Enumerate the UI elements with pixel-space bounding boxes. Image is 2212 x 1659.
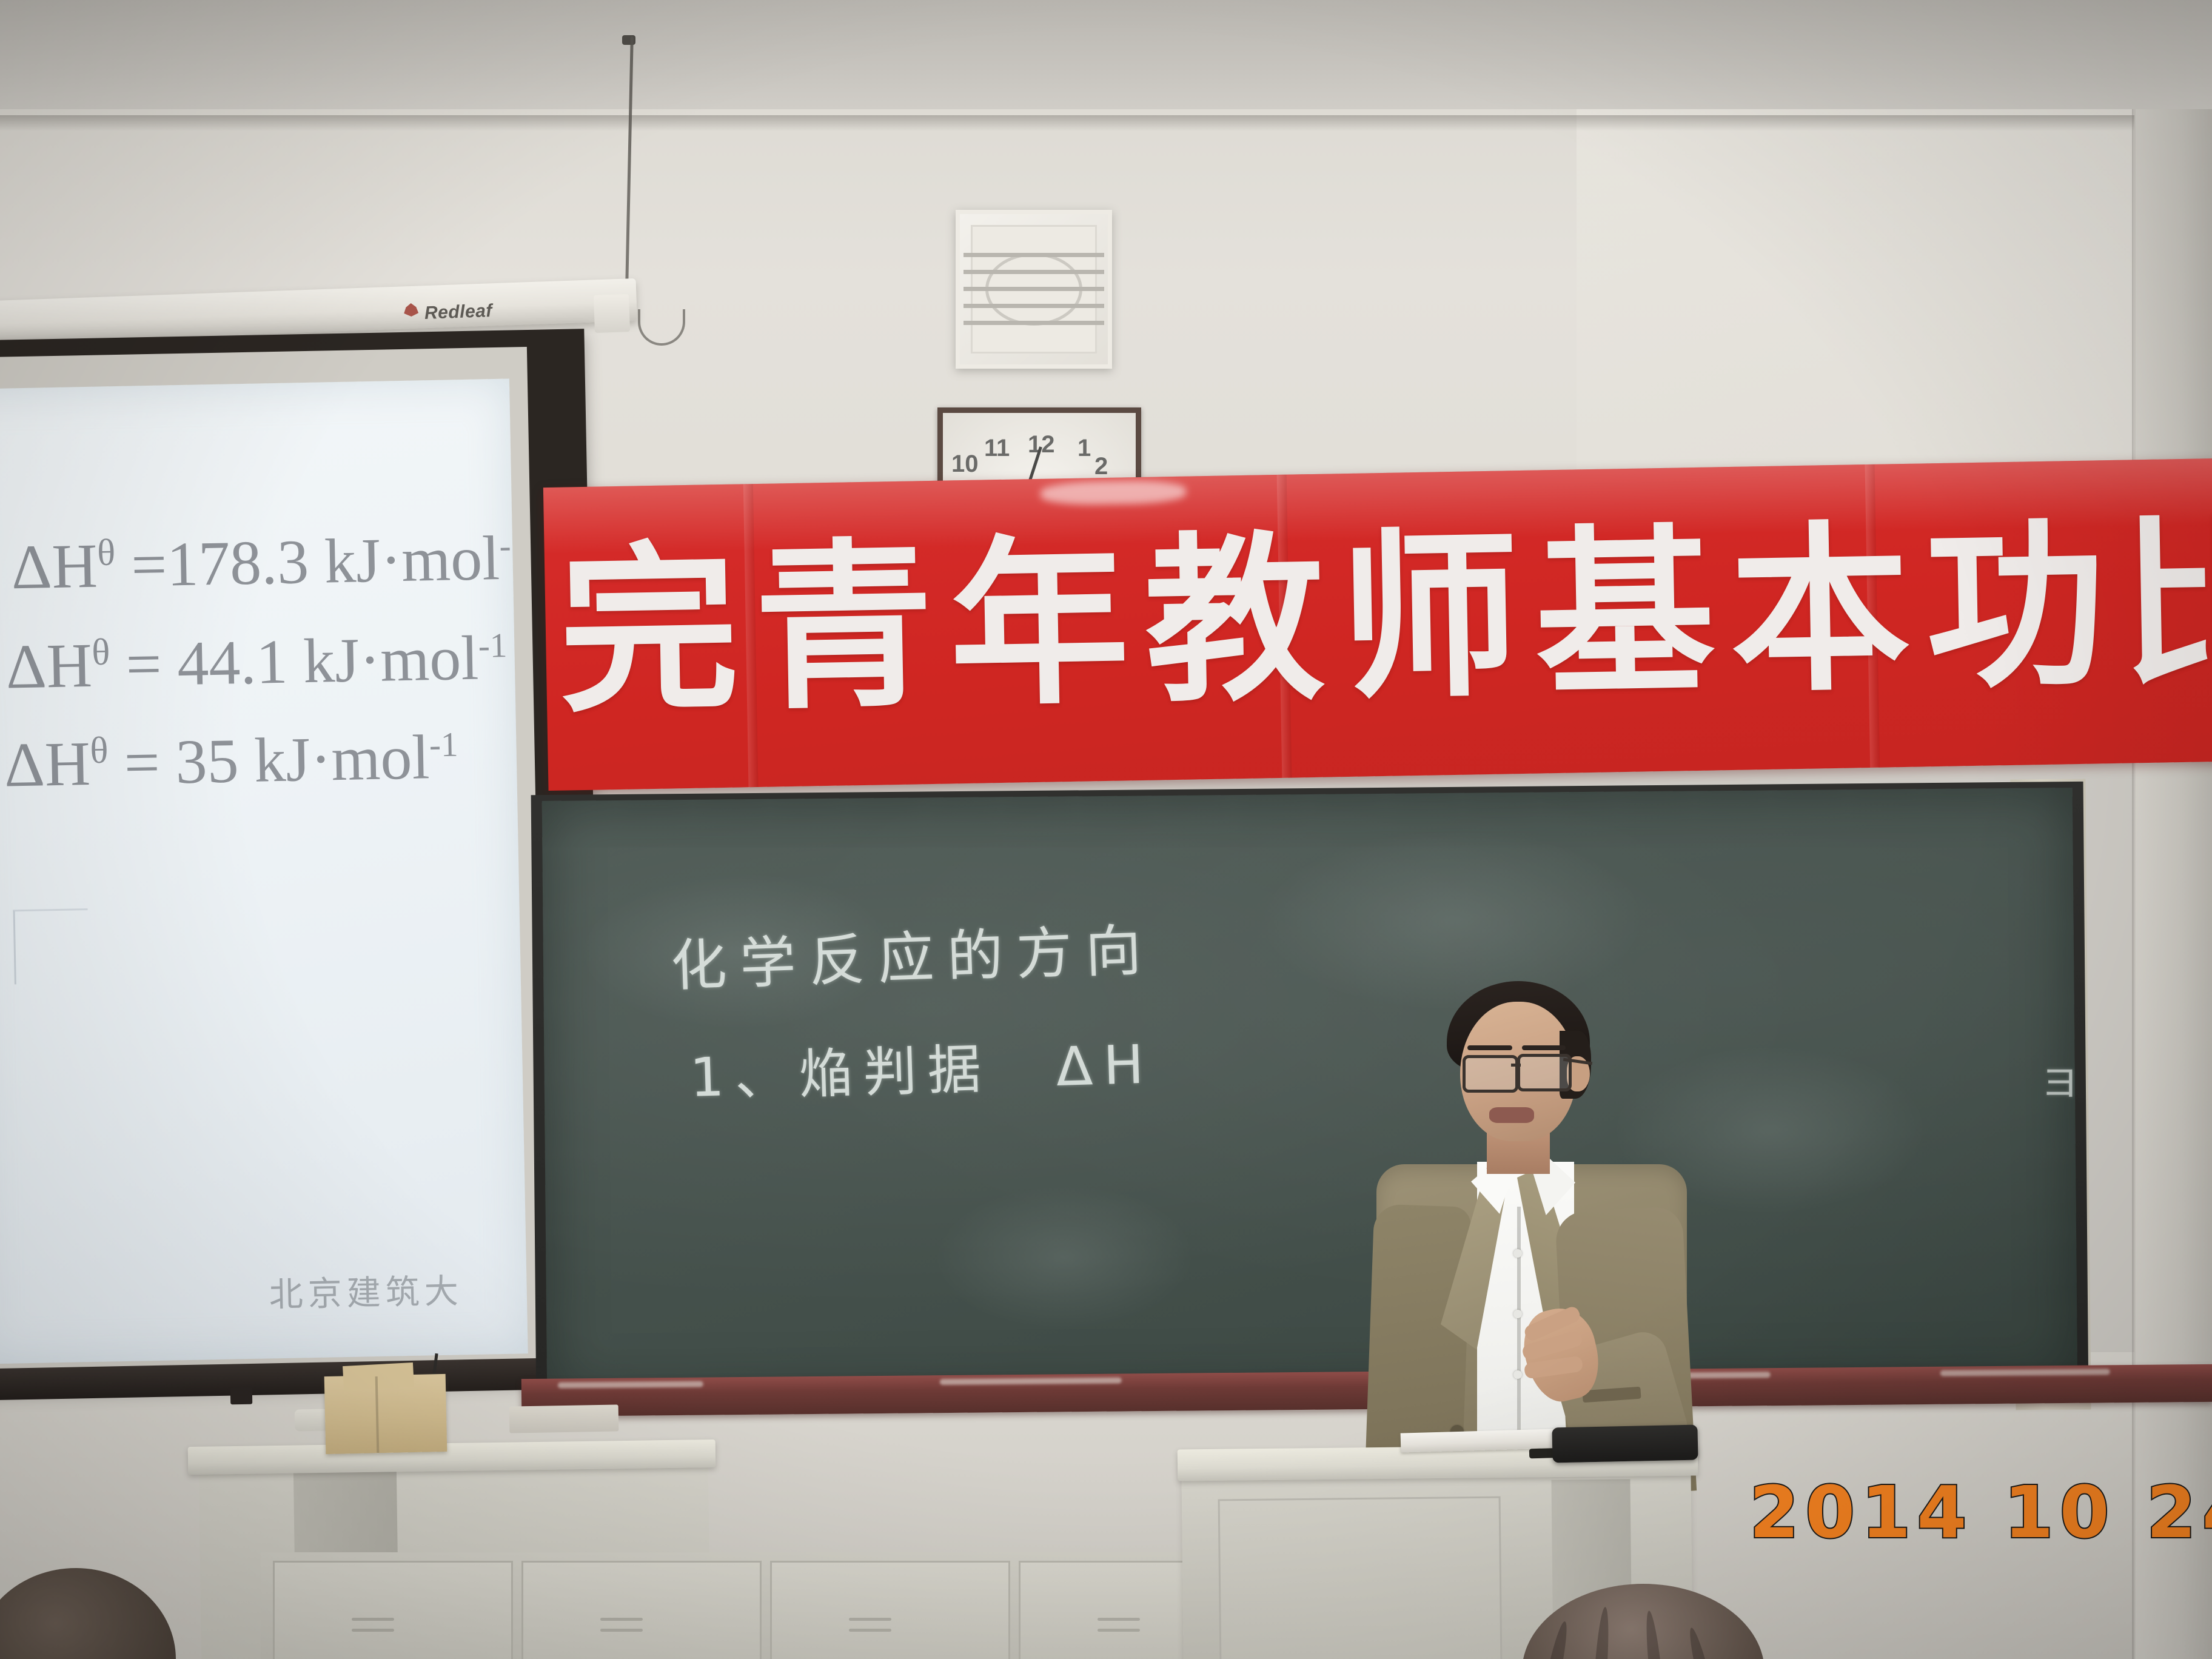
- chalk-dust: [558, 1381, 703, 1389]
- clock-number-10: 10: [951, 451, 979, 478]
- chalk-dust: [940, 1378, 1122, 1386]
- cabinet-vent-slot: [849, 1629, 891, 1632]
- cabinet-door[interactable]: [521, 1561, 762, 1659]
- blackboard-surface: 化学反应的方向 1、焔判据 ΔH: [542, 788, 2078, 1399]
- projected-slide: ΔHθ =178.3 kJ·mol-1 ΔHθ = 44.1 kJ·mol-1 …: [0, 379, 528, 1364]
- hair-strand: [1643, 1610, 1668, 1659]
- eyeglasses-lens-left: [1463, 1055, 1518, 1093]
- projection-screen-weight: [230, 1387, 252, 1405]
- slide-faint-artifact: [13, 908, 89, 984]
- slide-eq2-theta: θ: [92, 631, 110, 674]
- table-flat-object: [509, 1404, 619, 1433]
- black-case-on-lectern: [1552, 1424, 1698, 1463]
- cabinet-vent-slot: [849, 1618, 891, 1621]
- cabinet-vent-slot: [1098, 1618, 1140, 1621]
- eyebrow-right: [1522, 1045, 1566, 1050]
- blackboard-line-2: 1、焔判据 ΔH: [689, 1021, 1156, 1112]
- eyebrow-left: [1467, 1045, 1512, 1050]
- screen-brand-label: Redleaf: [424, 301, 492, 324]
- cabinet-vent-slot: [1098, 1629, 1140, 1632]
- housing-end-cap: [594, 294, 630, 333]
- slide-watermark: 北京建筑大: [269, 1264, 463, 1316]
- presenter: [1322, 964, 1722, 1498]
- slide-eq2-value: = 44.1 kJ·mol: [126, 623, 480, 700]
- shirt-button: [1513, 1370, 1522, 1379]
- slide-eq3-theta: θ: [90, 729, 109, 772]
- blackboard-edge-chalk-mark: ヨ: [2041, 1052, 2079, 1107]
- slide-eq3-exponent: -1: [429, 726, 458, 765]
- cabinet-vent-slot: [352, 1618, 394, 1621]
- cabinet-vent-slot: [600, 1629, 643, 1632]
- cabinet-vent-slot: [352, 1629, 394, 1632]
- slide-eq1-value: =178.3 kJ·mol: [130, 523, 500, 600]
- clock-number-12: 12: [1028, 431, 1055, 458]
- classroom-photo: 10 11 12 1 2 Redleaf ΔHθ =178.3 kJ·mol-1…: [0, 0, 2212, 1659]
- cabinet-door[interactable]: [770, 1561, 1010, 1659]
- slide-eq1-theta: θ: [97, 531, 116, 574]
- wall-vent: [956, 210, 1112, 369]
- cabinet-door[interactable]: [273, 1561, 513, 1659]
- clock-number-1: 1: [1078, 435, 1091, 462]
- presenter-mouth: [1489, 1107, 1534, 1123]
- blackboard-frame: 化学反应的方向 1、焔判据 ΔH: [531, 782, 2089, 1407]
- slide-eq1-exponent: -1: [499, 526, 528, 565]
- slide-equation-1: ΔHθ =178.3 kJ·mol-1: [11, 521, 528, 603]
- slide-eq2-symbol: ΔH: [5, 631, 93, 702]
- vent-slat: [964, 270, 1104, 274]
- wall-right-return: [2134, 109, 2212, 1659]
- clock-number-2: 2: [1094, 453, 1108, 480]
- blackboard-line-1: 化学反应的方向: [669, 905, 1156, 1002]
- vent-slat: [964, 287, 1104, 291]
- vent-slat: [964, 253, 1104, 257]
- hair-strand: [1686, 1626, 1723, 1659]
- eyeglasses-bridge: [1511, 1064, 1521, 1067]
- hair-strand: [1590, 1607, 1612, 1659]
- camera-date-stamp: 2014 10 24: [1749, 1470, 2212, 1554]
- slide-equation-2: ΔHθ = 44.1 kJ·mol-1: [5, 622, 508, 703]
- lectern-front-panel: [1218, 1496, 1503, 1659]
- cardboard-box-flap: [343, 1362, 414, 1390]
- vent-slat: [964, 304, 1104, 308]
- chalk-smudge: [933, 1184, 1195, 1332]
- ceiling: [0, 0, 2212, 121]
- hair-strand: [1534, 1620, 1571, 1659]
- slide-eq3-symbol: ΔH: [4, 729, 91, 800]
- chalk-dust: [1940, 1369, 2110, 1376]
- slide-eq3-value: = 35 kJ·mol: [124, 722, 431, 798]
- vent-slat: [964, 321, 1104, 325]
- cabinet-vent-slot: [600, 1618, 643, 1621]
- ceiling-shadow: [0, 115, 2212, 131]
- clock-number-11: 11: [984, 435, 1010, 462]
- slide-eq2-exponent: -1: [478, 626, 508, 665]
- projection-screen-frame: ΔHθ =178.3 kJ·mol-1 ΔHθ = 44.1 kJ·mol-1 …: [0, 329, 605, 1390]
- wall-corner-edge: [2132, 109, 2136, 1659]
- slide-eq1-symbol: ΔH: [11, 531, 98, 603]
- shirt-button: [1513, 1310, 1522, 1318]
- slide-equation-3: ΔHθ = 35 kJ·mol-1: [4, 720, 459, 801]
- event-banner: 完青年教师基本功比赛: [543, 458, 2212, 791]
- shirt-button: [1513, 1249, 1522, 1258]
- wall-clock: 10 11 12 1 2: [937, 407, 1141, 486]
- banner-title: 完青年教师基本功比赛: [557, 509, 2212, 723]
- projection-screen-mat: ΔHθ =178.3 kJ·mol-1 ΔHθ = 44.1 kJ·mol-1 …: [0, 347, 546, 1372]
